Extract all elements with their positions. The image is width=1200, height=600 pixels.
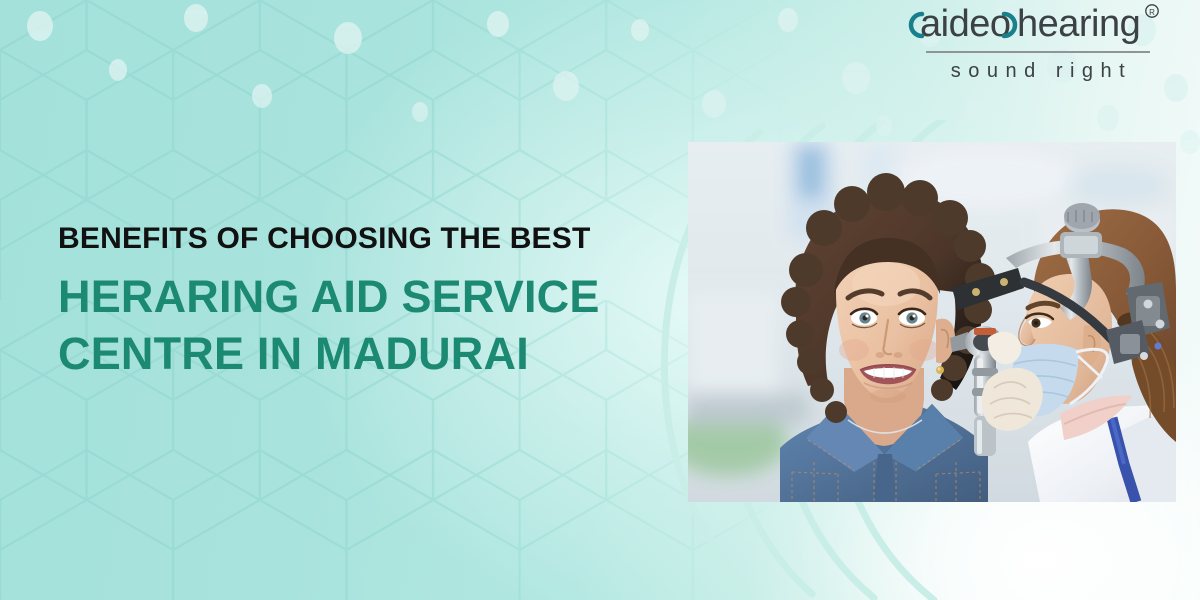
headline-line-1: HERARING AID SERVICE <box>58 268 698 325</box>
headline-line-2: CENTRE IN MADURAI <box>58 325 698 382</box>
headline-main: HERARING AID SERVICE CENTRE IN MADURAI <box>58 268 698 382</box>
svg-text:hearing: hearing <box>1017 3 1140 45</box>
clinic-photo <box>688 142 1176 502</box>
svg-text:aideo: aideo <box>920 3 1010 45</box>
brand-logo[interactable]: aideo hearing R sound right <box>904 2 1172 83</box>
headline-block: BENEFITS OF CHOOSING THE BEST HERARING A… <box>58 224 698 382</box>
svg-text:R: R <box>1149 8 1155 17</box>
logo-wordmark: aideo hearing R <box>904 2 1172 48</box>
logo-tagline: sound right <box>904 60 1172 83</box>
logo-divider <box>926 51 1150 53</box>
promotional-banner: aideo hearing R sound right BENEFITS OF … <box>0 0 1200 600</box>
headline-kicker: BENEFITS OF CHOOSING THE BEST <box>58 224 698 254</box>
